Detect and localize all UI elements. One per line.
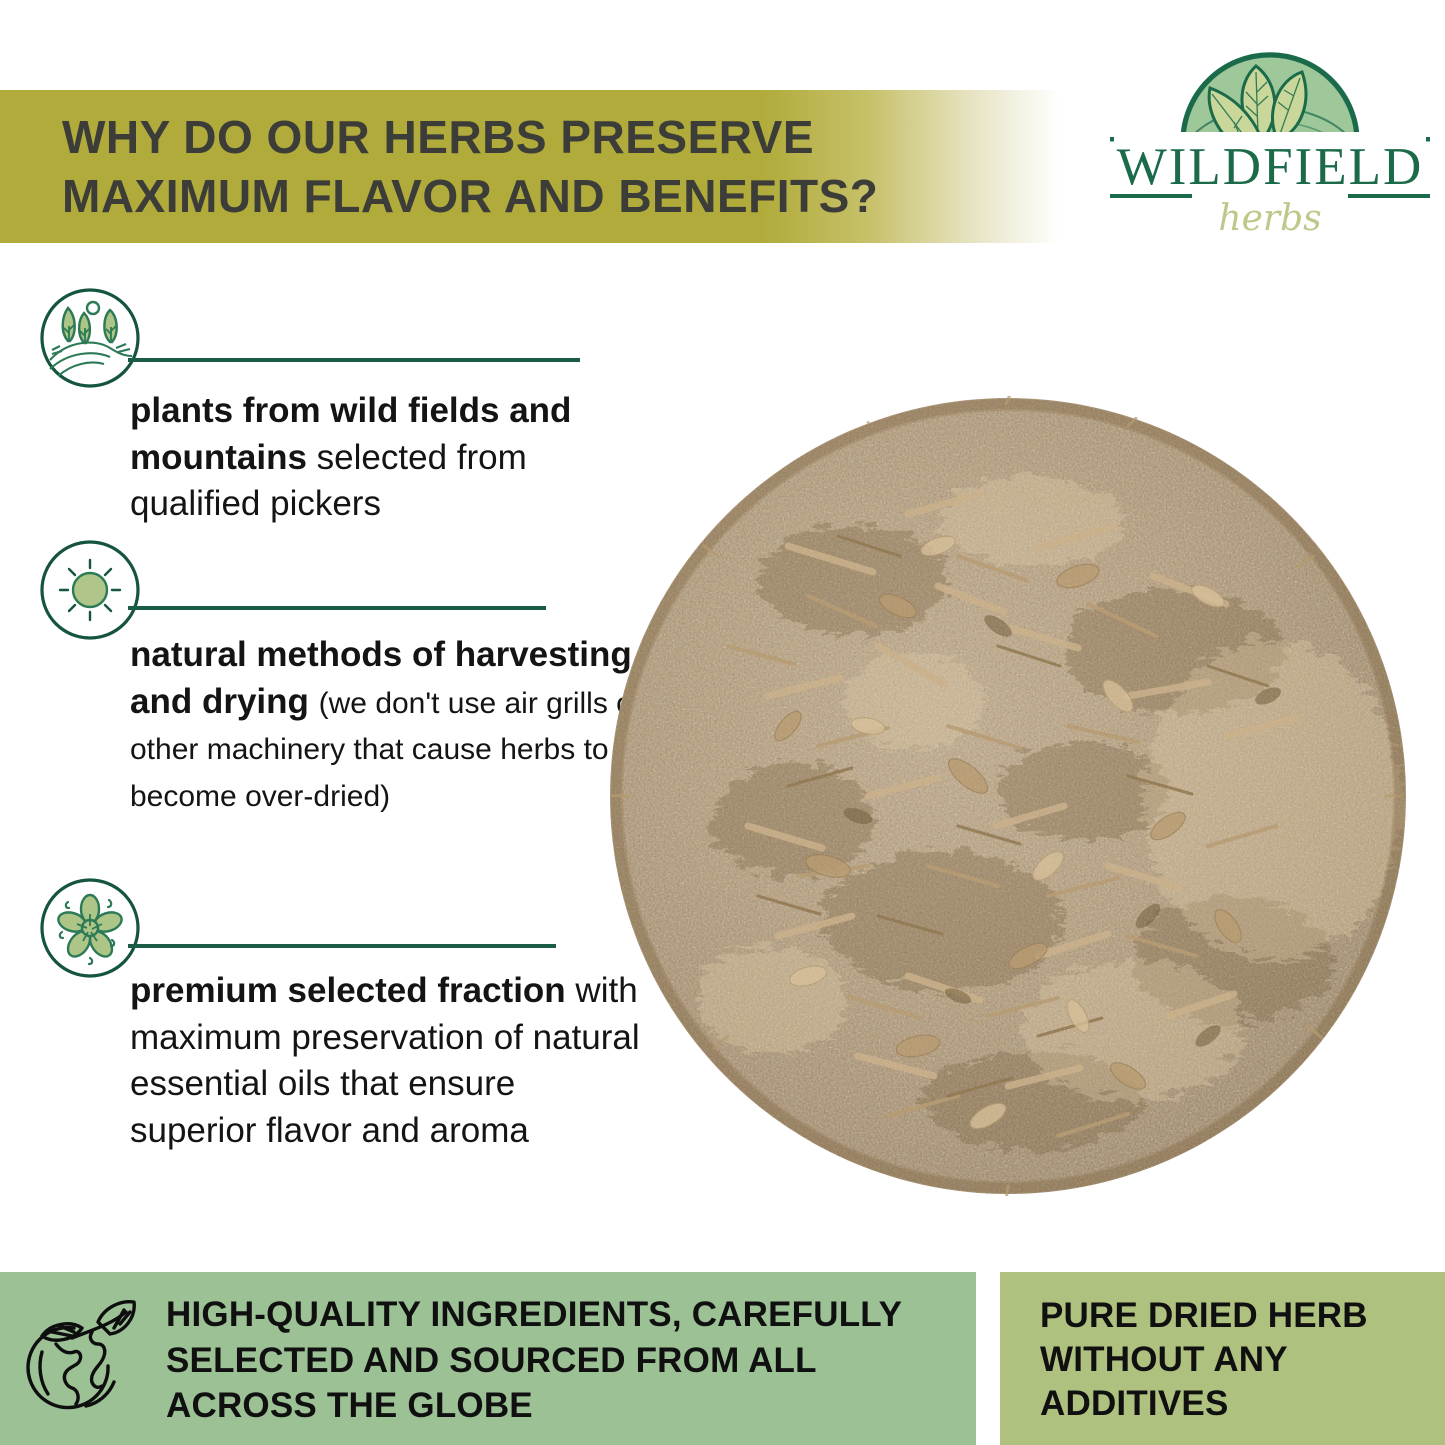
feature-text: plants from wild fields and mountains se…	[130, 388, 650, 528]
feature-bold-text: premium selected fraction	[130, 971, 566, 1010]
globe-with-leaf-icon	[26, 1294, 144, 1422]
feature-divider	[128, 944, 556, 948]
feature-divider	[128, 358, 580, 362]
page-title: WHY DO OUR HERBS PRESERVE MAXIMUM FLAVOR…	[62, 108, 1022, 226]
wild-field-landscape-icon	[38, 286, 143, 391]
feature-divider	[128, 606, 546, 610]
logo-brand-name: WILDFIELD	[1117, 138, 1423, 196]
banner-left-text: HIGH-QUALITY INGREDIENTS, CAREFULLY SELE…	[166, 1292, 956, 1429]
feature-text: premium selected fraction with maximum p…	[130, 968, 650, 1154]
feature-text: natural methods of harvesting and drying…	[130, 632, 650, 818]
sun-icon	[38, 538, 143, 643]
banner-right-text: PURE DRIED HERB WITHOUT ANY ADDITIVES	[1040, 1294, 1430, 1426]
logo-brand-sub: herbs	[1218, 198, 1321, 239]
brand-logo: WILDFIELD herbs	[1110, 32, 1430, 252]
leaves-badge-icon: WILDFIELD herbs	[1110, 32, 1430, 252]
feature-regular-text	[309, 682, 319, 721]
flower-blossom-icon	[38, 876, 143, 981]
dried-herb-pile-photo	[608, 396, 1408, 1196]
